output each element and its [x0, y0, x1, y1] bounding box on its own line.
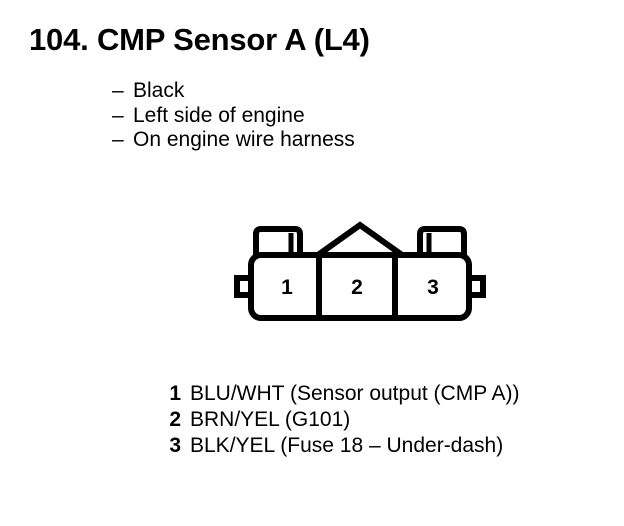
pin-legend: 1BLU/WHT (Sensor output (CMP A)) 2BRN/YE…	[168, 381, 520, 459]
center-peak-tab-icon	[318, 225, 402, 255]
list-item: –Left side of engine	[112, 104, 355, 129]
list-item-label: Left side of engine	[133, 104, 305, 127]
connector-diagram: 1 2 3	[232, 214, 488, 326]
legend-row: 3BLK/YEL (Fuse 18 – Under-dash)	[168, 433, 520, 459]
list-item: –Black	[112, 79, 355, 104]
list-item: –On engine wire harness	[112, 128, 355, 153]
attribute-list: –Black –Left side of engine –On engine w…	[112, 79, 355, 153]
cavity-number-3: 3	[427, 276, 439, 299]
dash-bullet-icon: –	[112, 79, 133, 104]
page-title: 104. CMP Sensor A (L4)	[29, 24, 370, 55]
legend-pin-number: 1	[168, 381, 181, 407]
cavity-number-1: 1	[281, 276, 293, 299]
legend-pin-description: BLK/YEL (Fuse 18 – Under-dash)	[190, 434, 503, 457]
cavity-number-2: 2	[351, 276, 363, 299]
legend-row: 2BRN/YEL (G101)	[168, 407, 520, 433]
legend-row: 1BLU/WHT (Sensor output (CMP A))	[168, 381, 520, 407]
legend-pin-number: 3	[168, 433, 181, 459]
dash-bullet-icon: –	[112, 104, 133, 129]
list-item-label: On engine wire harness	[133, 128, 355, 151]
legend-pin-description: BRN/YEL (G101)	[190, 408, 350, 431]
list-item-label: Black	[133, 79, 184, 102]
legend-pin-number: 2	[168, 407, 181, 433]
legend-pin-description: BLU/WHT (Sensor output (CMP A))	[190, 382, 520, 405]
dash-bullet-icon: –	[112, 128, 133, 153]
